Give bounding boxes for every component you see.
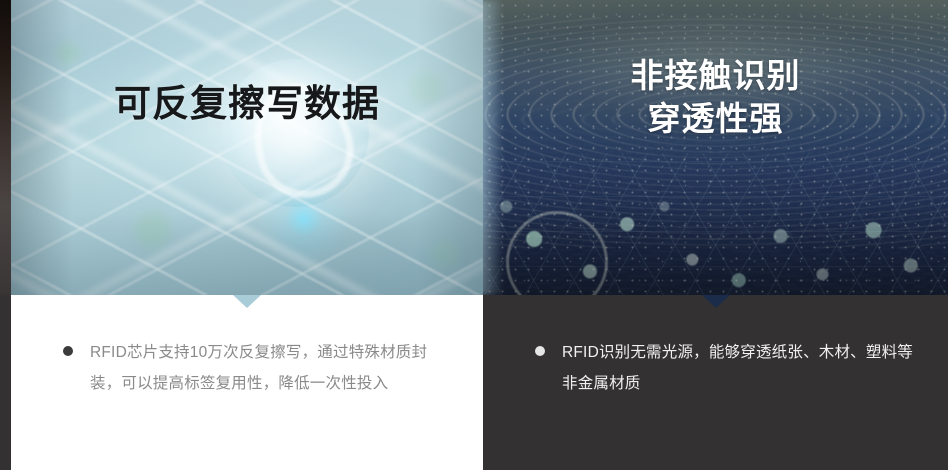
hero-image-rewritable-data bbox=[11, 0, 483, 295]
card-body-contactless-identification: RFID识别无需光源，能够穿透纸张、木材、塑料等非金属材质 bbox=[483, 295, 948, 470]
feature-card-contactless-identification[interactable]: 非接触识别 穿透性强 RFID识别无需光源，能够穿透纸张、木材、塑料等非金属材质 bbox=[483, 0, 948, 470]
bullet-dot-icon bbox=[535, 346, 545, 356]
triangle-down-icon bbox=[702, 295, 730, 308]
hero-vignette-layer bbox=[11, 0, 483, 295]
hero-image-contactless-identification bbox=[483, 0, 948, 295]
adjacent-card-edge-strip bbox=[0, 0, 11, 470]
list-item-text: RFID识别无需光源，能够穿透纸张、木材、塑料等非金属材质 bbox=[562, 337, 914, 399]
triangle-down-icon bbox=[233, 295, 261, 308]
card-body-rewritable-data: RFID芯片支持10万次反复擦写，通过特殊材质封装，可以提高标签复用性，降低一次… bbox=[11, 295, 483, 470]
hero-vignette-layer bbox=[483, 0, 948, 295]
list-item-text: RFID芯片支持10万次反复擦写，通过特殊材质封装，可以提高标签复用性，降低一次… bbox=[90, 337, 449, 399]
bullet-dot-icon bbox=[63, 346, 73, 356]
list-item: RFID芯片支持10万次反复擦写，通过特殊材质封装，可以提高标签复用性，降低一次… bbox=[63, 337, 449, 399]
feature-card-rewritable-data[interactable]: 可反复擦写数据 RFID芯片支持10万次反复擦写，通过特殊材质封装，可以提高标签… bbox=[11, 0, 483, 470]
feature-cards-section: 可反复擦写数据 RFID芯片支持10万次反复擦写，通过特殊材质封装，可以提高标签… bbox=[0, 0, 948, 470]
list-item: RFID识别无需光源，能够穿透纸张、木材、塑料等非金属材质 bbox=[535, 337, 914, 399]
